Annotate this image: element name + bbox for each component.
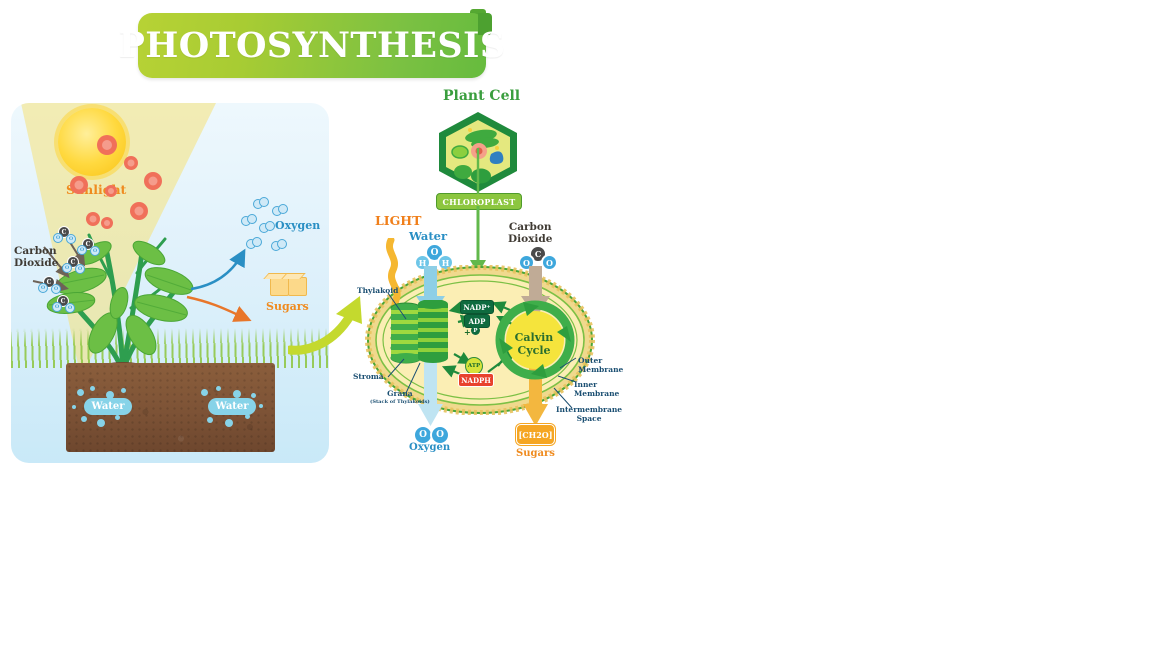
outer-membrane-line2: Membrane bbox=[578, 365, 623, 374]
atom-oxygen: O bbox=[38, 283, 48, 293]
inner-membrane-label: Inner Membrane bbox=[574, 380, 619, 398]
co2-label-line2: Dioxide bbox=[14, 257, 58, 269]
grana-label-main: Grana bbox=[387, 389, 413, 398]
title-banner: PHOTOSYNTHESIS bbox=[138, 13, 486, 78]
water-label-right: Water bbox=[208, 398, 256, 415]
atom-oxygen: O bbox=[51, 284, 61, 294]
light-label: LIGHT bbox=[375, 213, 421, 228]
co2-label-line1: Carbon bbox=[14, 245, 57, 257]
atom-oxygen: O bbox=[90, 246, 100, 256]
calvin-line2: Cycle bbox=[517, 344, 550, 357]
thylakoid-label: Thylakoid bbox=[357, 286, 398, 295]
atom-oxygen: O bbox=[52, 302, 62, 312]
atom-oxygen: O bbox=[77, 245, 87, 255]
carbon-dioxide-label-left: Carbon Dioxide bbox=[14, 245, 58, 269]
carbon-dioxide-label-diagram: Carbon Dioxide bbox=[508, 221, 552, 245]
left-leader-lines bbox=[358, 285, 468, 400]
grana-label-sub: (Stack of Thylakoids) bbox=[370, 398, 430, 407]
sugars-output-label: Sugars bbox=[516, 448, 555, 459]
calvin-line1: Calvin bbox=[515, 331, 554, 344]
page-title: PHOTOSYNTHESIS bbox=[138, 13, 486, 78]
nadp-plus-superscript: + bbox=[486, 304, 490, 310]
outer-membrane-label: Outer Membrane bbox=[578, 356, 623, 374]
phosphate-circle: P bbox=[471, 326, 480, 335]
atom-oxygen: O bbox=[66, 234, 76, 244]
atom-oxygen bbox=[259, 197, 269, 207]
grana-label: Grana (Stack of Thylakoids) bbox=[370, 389, 430, 407]
oxygen-label-left-scene: Oxygen bbox=[275, 219, 320, 232]
sugar-cube bbox=[270, 277, 289, 296]
inner-membrane-line2: Membrane bbox=[574, 389, 619, 398]
stroma-label: Stroma bbox=[353, 372, 384, 381]
atom-oxygen: O bbox=[62, 263, 72, 273]
atom-oxygen: O bbox=[53, 233, 63, 243]
inner-membrane-line1: Inner bbox=[574, 380, 597, 389]
intermembrane-line2: Space bbox=[577, 414, 602, 423]
atom-oxygen: O bbox=[75, 264, 85, 274]
cell-to-label-line bbox=[455, 148, 501, 198]
intermembrane-space-label: Intermembrane Space bbox=[556, 405, 622, 423]
sugars-formula-text: [CH2O] bbox=[518, 430, 552, 440]
co2-diagram-line1: Carbon bbox=[509, 221, 552, 233]
illustration-canvas: PHOTOSYNTHESIS Sunlight bbox=[0, 0, 1152, 648]
co2-diagram-line2: Dioxide bbox=[508, 233, 552, 245]
sugars-formula-box: [CH2O] bbox=[516, 424, 555, 445]
plant-cell-title: Plant Cell bbox=[443, 88, 520, 104]
water-label-left: Water bbox=[84, 398, 132, 415]
intermembrane-line1: Intermembrane bbox=[556, 405, 622, 414]
outer-membrane-line1: Outer bbox=[578, 356, 602, 365]
atom-oxygen: O bbox=[65, 303, 75, 313]
oxygen-output-label: Oxygen bbox=[409, 442, 450, 453]
